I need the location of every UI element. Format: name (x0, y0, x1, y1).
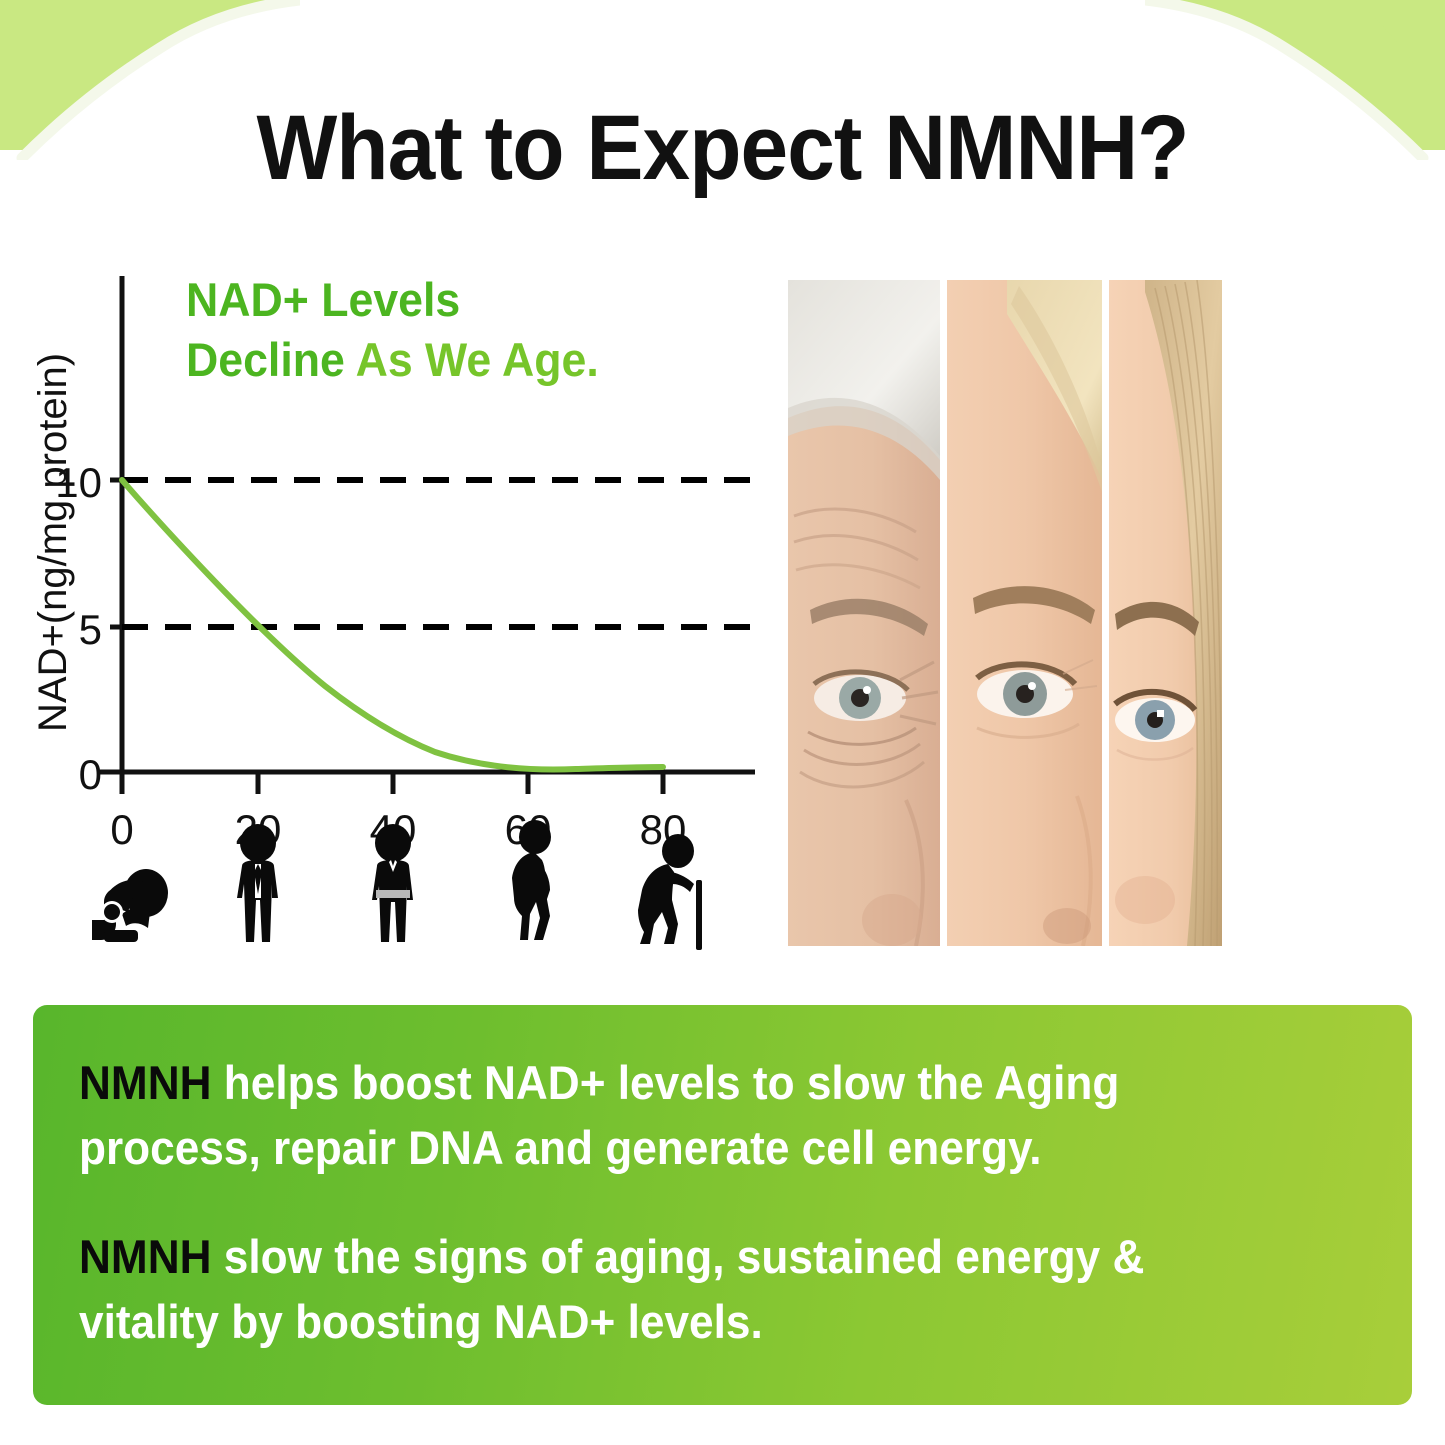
benefit-text-2: slow the signs of aging, sustained energ… (79, 1230, 1144, 1348)
benefit-paragraph-2: NMNH slow the signs of aging, sustained … (79, 1225, 1289, 1355)
x-tick-label-0: 0 (110, 806, 133, 853)
face-panel-elderly (788, 280, 940, 946)
standing-adult-belt-icon (372, 824, 413, 942)
chart-heading-line1: NAD+ Levels (186, 270, 756, 330)
brand-label-1: NMNH (79, 1056, 212, 1109)
y-tick-label-0: 0 (79, 751, 102, 798)
face-panel-middle-aged (947, 280, 1102, 946)
chart-heading-line2-dark: Decline (186, 333, 356, 386)
page-title: What to Expect NMNH? (51, 100, 1395, 197)
chart-heading: NAD+ Levels Decline As We Age. (186, 270, 756, 389)
chart-heading-line2: Decline As We Age. (186, 330, 756, 390)
chart-heading-line2-light: As We Age. (356, 333, 599, 386)
infographic-page: What to Expect NMNH? 0 5 (0, 0, 1445, 1445)
brand-label-2: NMNH (79, 1230, 212, 1283)
nad-decline-chart: 0 5 10 0 20 40 60 80 NAD+(ng/mg protein) (10, 262, 770, 952)
aging-progression-photo-collage (788, 280, 1222, 946)
face-panel-young (1109, 280, 1222, 946)
y-axis-title: NAD+(ng/mg protein) (31, 353, 75, 732)
benefit-text-1: helps boost NAD+ levels to slow the Agin… (79, 1056, 1119, 1174)
y-tick-label-5: 5 (79, 606, 102, 653)
benefits-callout-box: NMNH helps boost NAD+ levels to slow the… (33, 1005, 1412, 1405)
crawling-baby-icon (92, 869, 168, 942)
benefit-paragraph-1: NMNH helps boost NAD+ levels to slow the… (79, 1051, 1289, 1181)
standing-adult-suit-icon (237, 824, 278, 942)
